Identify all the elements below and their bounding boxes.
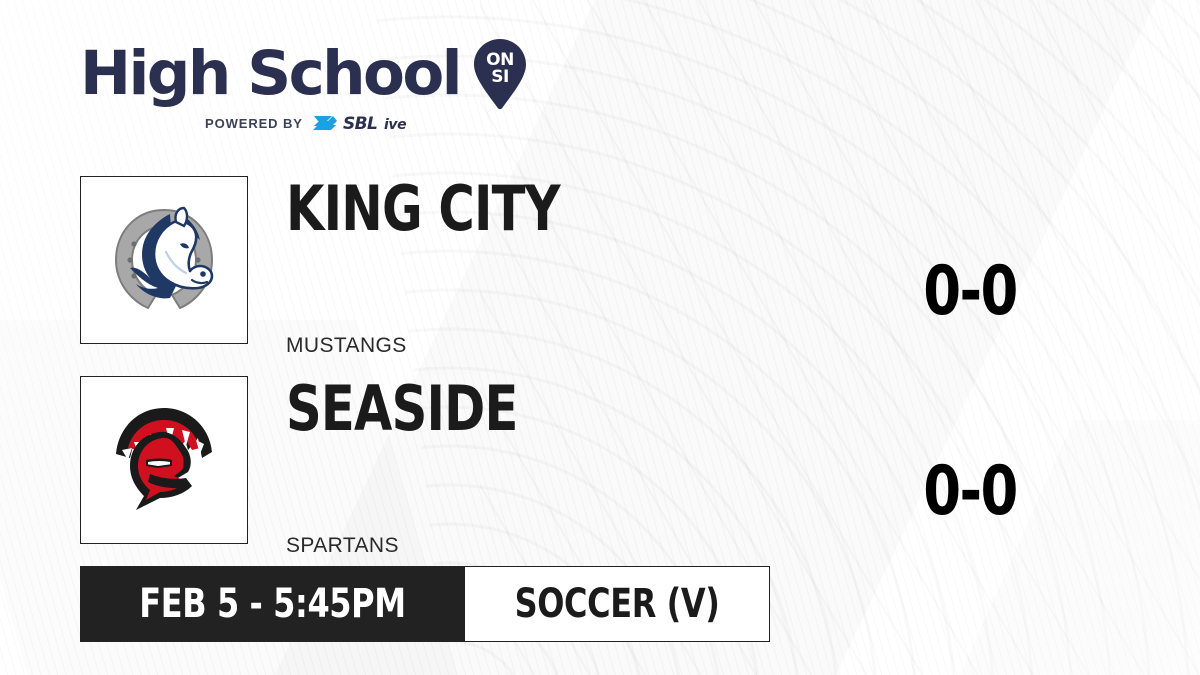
powered-by-row: POWERED BY SBL ive: [80, 112, 510, 134]
game-sport-text: SOCCER (V): [515, 584, 720, 624]
sblive-logo: SBL ive: [312, 112, 420, 134]
spartan-helmet-logo-icon: [102, 398, 226, 522]
game-info-bar: FEB 5 - 5:45PM SOCCER (V): [80, 566, 770, 642]
on-si-pin-icon: ON SI: [472, 38, 528, 110]
scoreboard-graphic: High School ON SI POWERED BY SBL: [0, 0, 1200, 675]
team-score-0: 0-0: [890, 258, 1050, 326]
team-score-1: 0-0: [890, 458, 1050, 526]
game-datetime-text: FEB 5 - 5:45PM: [139, 584, 405, 624]
team-logo-box-0: [80, 176, 248, 344]
team-logo-box-1: [80, 376, 248, 544]
svg-text:SI: SI: [491, 67, 509, 87]
game-datetime-chip: FEB 5 - 5:45PM: [80, 566, 465, 642]
brand-row: High School ON SI: [80, 38, 510, 110]
team-text-1: SEASIDE SPARTANS: [286, 376, 846, 544]
game-sport-chip: SOCCER (V): [465, 566, 770, 642]
mustang-horseshoe-logo-icon: [100, 196, 228, 324]
brand-wordmark: High School: [80, 45, 460, 103]
svg-text:ive: ive: [384, 117, 406, 133]
powered-by-label: POWERED BY: [205, 116, 303, 131]
team-mascot-1: SPARTANS: [286, 534, 399, 558]
svg-text:SBL: SBL: [343, 114, 377, 134]
brand-lockup: High School ON SI POWERED BY SBL: [80, 38, 510, 134]
team-text-0: KING CITY MUSTANGS: [286, 176, 846, 344]
team-name-1: SEASIDE: [286, 378, 518, 440]
sblive-s-mark: [313, 116, 337, 130]
team-mascot-0: MUSTANGS: [286, 334, 407, 358]
team-name-0: KING CITY: [286, 178, 560, 240]
